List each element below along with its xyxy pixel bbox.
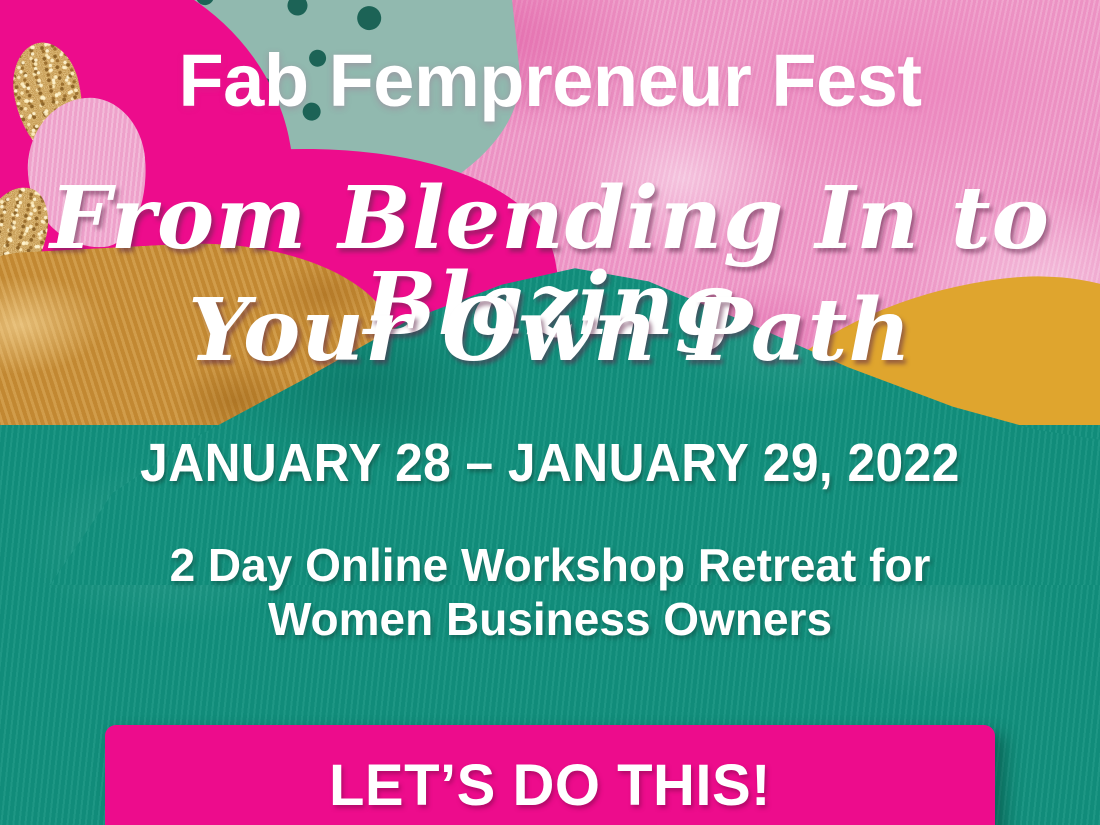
- cta-button-label: LET’S DO THIS!: [329, 752, 771, 819]
- poster-headline: Fab Fempreneur Fest: [0, 44, 1100, 118]
- subtitle-line-1: 2 Day Online Workshop Retreat for: [0, 538, 1100, 592]
- event-poster: Fab Fempreneur Fest From Blending In to …: [0, 0, 1100, 825]
- subtitle-line-2: Women Business Owners: [0, 592, 1100, 646]
- event-date: JANUARY 28 – JANUARY 29, 2022: [44, 432, 1056, 494]
- lets-do-this-button[interactable]: LET’S DO THIS!: [105, 725, 995, 825]
- event-subtitle: 2 Day Online Workshop Retreat for Women …: [0, 538, 1100, 647]
- tagline-line-2: Your Own Path: [0, 288, 1100, 374]
